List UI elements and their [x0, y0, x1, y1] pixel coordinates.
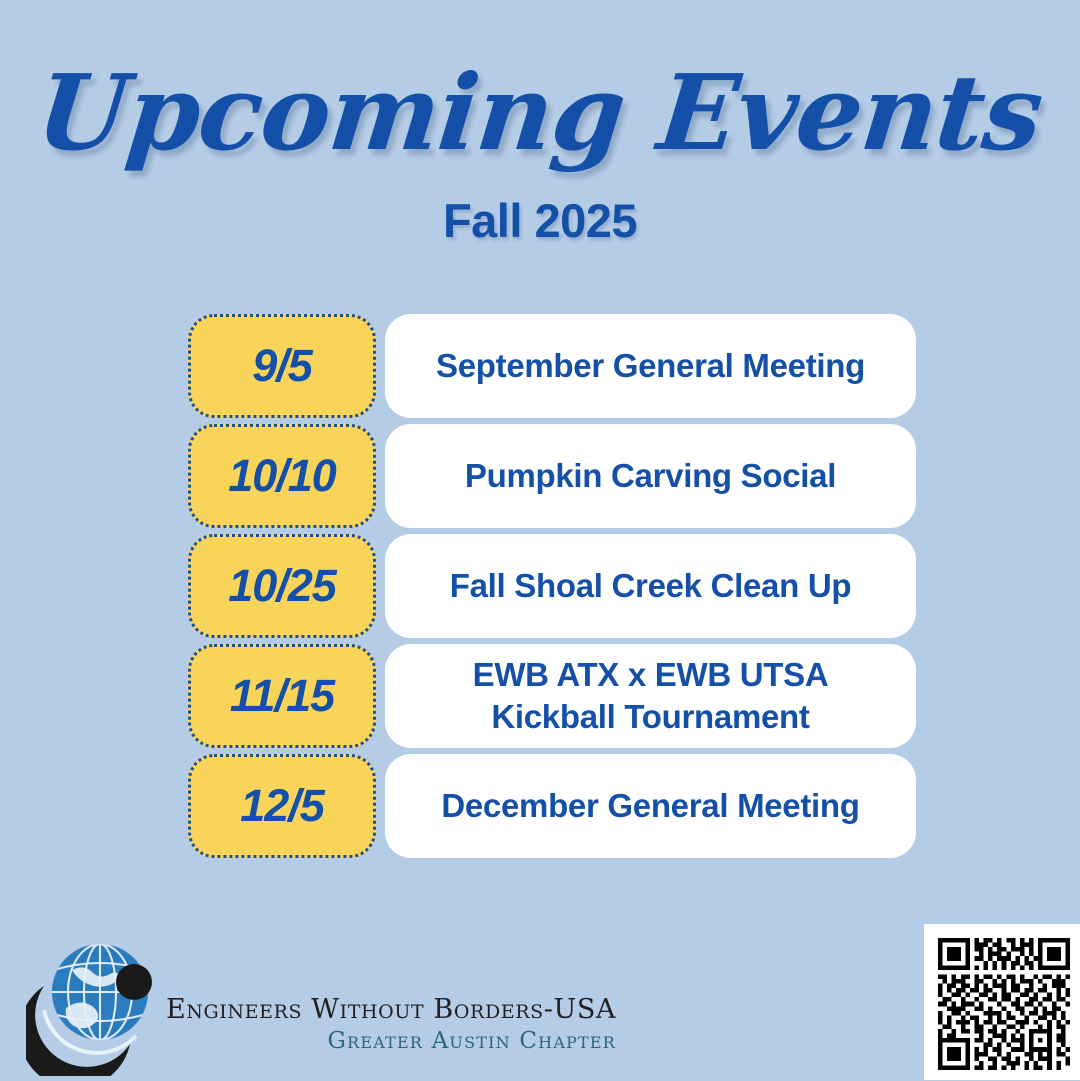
event-date-badge: 9/5	[188, 314, 376, 418]
event-date: 10/10	[228, 450, 336, 502]
organization-logo: Engineers Without Borders-USA Greater Au…	[26, 926, 616, 1078]
events-list: 9/5 September General Meeting 10/10 Pump…	[188, 314, 916, 864]
event-date-badge: 11/15	[188, 644, 376, 748]
event-title: EWB ATX x EWB UTSAKickball Tournament	[473, 654, 829, 738]
event-date-badge: 10/25	[188, 534, 376, 638]
logo-wordmark: Engineers Without Borders-USA Greater Au…	[166, 994, 616, 1054]
logo-org-name: Engineers Without Borders-USA	[166, 994, 616, 1025]
event-date: 11/15	[230, 670, 334, 722]
logo-chapter-name: Greater Austin Chapter	[166, 1028, 616, 1054]
event-date: 10/25	[228, 560, 336, 612]
page-subtitle: Fall 2025	[0, 193, 1080, 248]
event-card[interactable]: Pumpkin Carving Social	[385, 424, 916, 528]
list-item[interactable]: 9/5 September General Meeting	[188, 314, 916, 418]
poster-header: Upcoming Events Fall 2025	[0, 0, 1080, 248]
list-item[interactable]: 12/5 December General Meeting	[188, 754, 916, 858]
event-card[interactable]: September General Meeting	[385, 314, 916, 418]
qr-code[interactable]	[924, 924, 1080, 1080]
list-item[interactable]: 11/15 EWB ATX x EWB UTSAKickball Tournam…	[188, 644, 916, 748]
event-title: December General Meeting	[441, 785, 859, 827]
list-item[interactable]: 10/10 Pumpkin Carving Social	[188, 424, 916, 528]
event-date: 9/5	[252, 340, 312, 392]
event-card[interactable]: EWB ATX x EWB UTSAKickball Tournament	[385, 644, 916, 748]
event-title: September General Meeting	[436, 345, 865, 387]
event-date: 12/5	[240, 780, 324, 832]
event-date-badge: 12/5	[188, 754, 376, 858]
event-date-badge: 10/10	[188, 424, 376, 528]
event-card[interactable]: Fall Shoal Creek Clean Up	[385, 534, 916, 638]
list-item[interactable]: 10/25 Fall Shoal Creek Clean Up	[188, 534, 916, 638]
event-card[interactable]: December General Meeting	[385, 754, 916, 858]
ewb-globe-icon	[26, 926, 176, 1076]
page-title: Upcoming Events	[33, 58, 1048, 167]
event-title: Fall Shoal Creek Clean Up	[450, 565, 851, 607]
event-title: Pumpkin Carving Social	[465, 455, 836, 497]
